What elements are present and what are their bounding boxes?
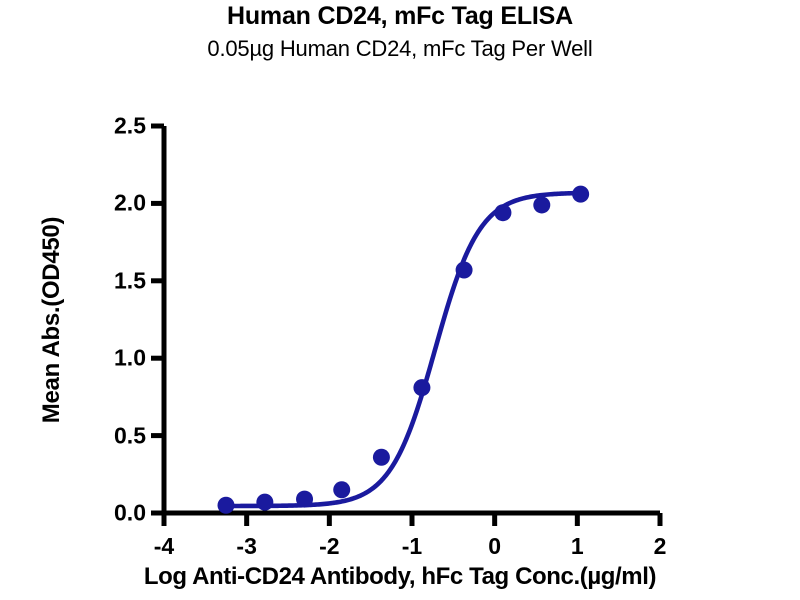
y-tick-label: 1.5 [86, 267, 146, 294]
x-tick-label: -4 [154, 533, 174, 560]
y-axis-label: Mean Abs.(OD450) [38, 216, 66, 422]
y-tick-label: 1.0 [86, 345, 146, 372]
data-point-marker [413, 379, 430, 396]
y-tick-label: 0.0 [86, 500, 146, 527]
data-point-marker [572, 186, 589, 203]
x-tick-label: -1 [402, 533, 422, 560]
x-tick-label: 1 [571, 533, 584, 560]
data-point-marker [456, 261, 473, 278]
data-point-marker [256, 494, 273, 511]
x-tick-label: 2 [654, 533, 667, 560]
data-point-marker [218, 497, 235, 514]
y-tick-label: 2.5 [86, 113, 146, 140]
fit-curve [226, 193, 581, 506]
chart-figure: Human CD24, mFc Tag ELISA 0.05µg Human C… [0, 0, 800, 600]
x-tick-label: -2 [319, 533, 339, 560]
y-tick-label: 0.5 [86, 422, 146, 449]
data-point-marker [533, 196, 550, 213]
y-tick-label: 2.0 [86, 190, 146, 217]
x-tick-label: 0 [488, 533, 501, 560]
data-point-marker [296, 491, 313, 508]
data-point-marker [494, 204, 511, 221]
fit-curve-path [226, 193, 581, 506]
axes [164, 126, 660, 513]
x-tick-label: -3 [236, 533, 256, 560]
data-points [218, 186, 590, 514]
data-point-marker [373, 449, 390, 466]
data-point-marker [333, 481, 350, 498]
x-axis-label: Log Anti-CD24 Antibody, hFc Tag Conc.(µg… [0, 563, 800, 591]
